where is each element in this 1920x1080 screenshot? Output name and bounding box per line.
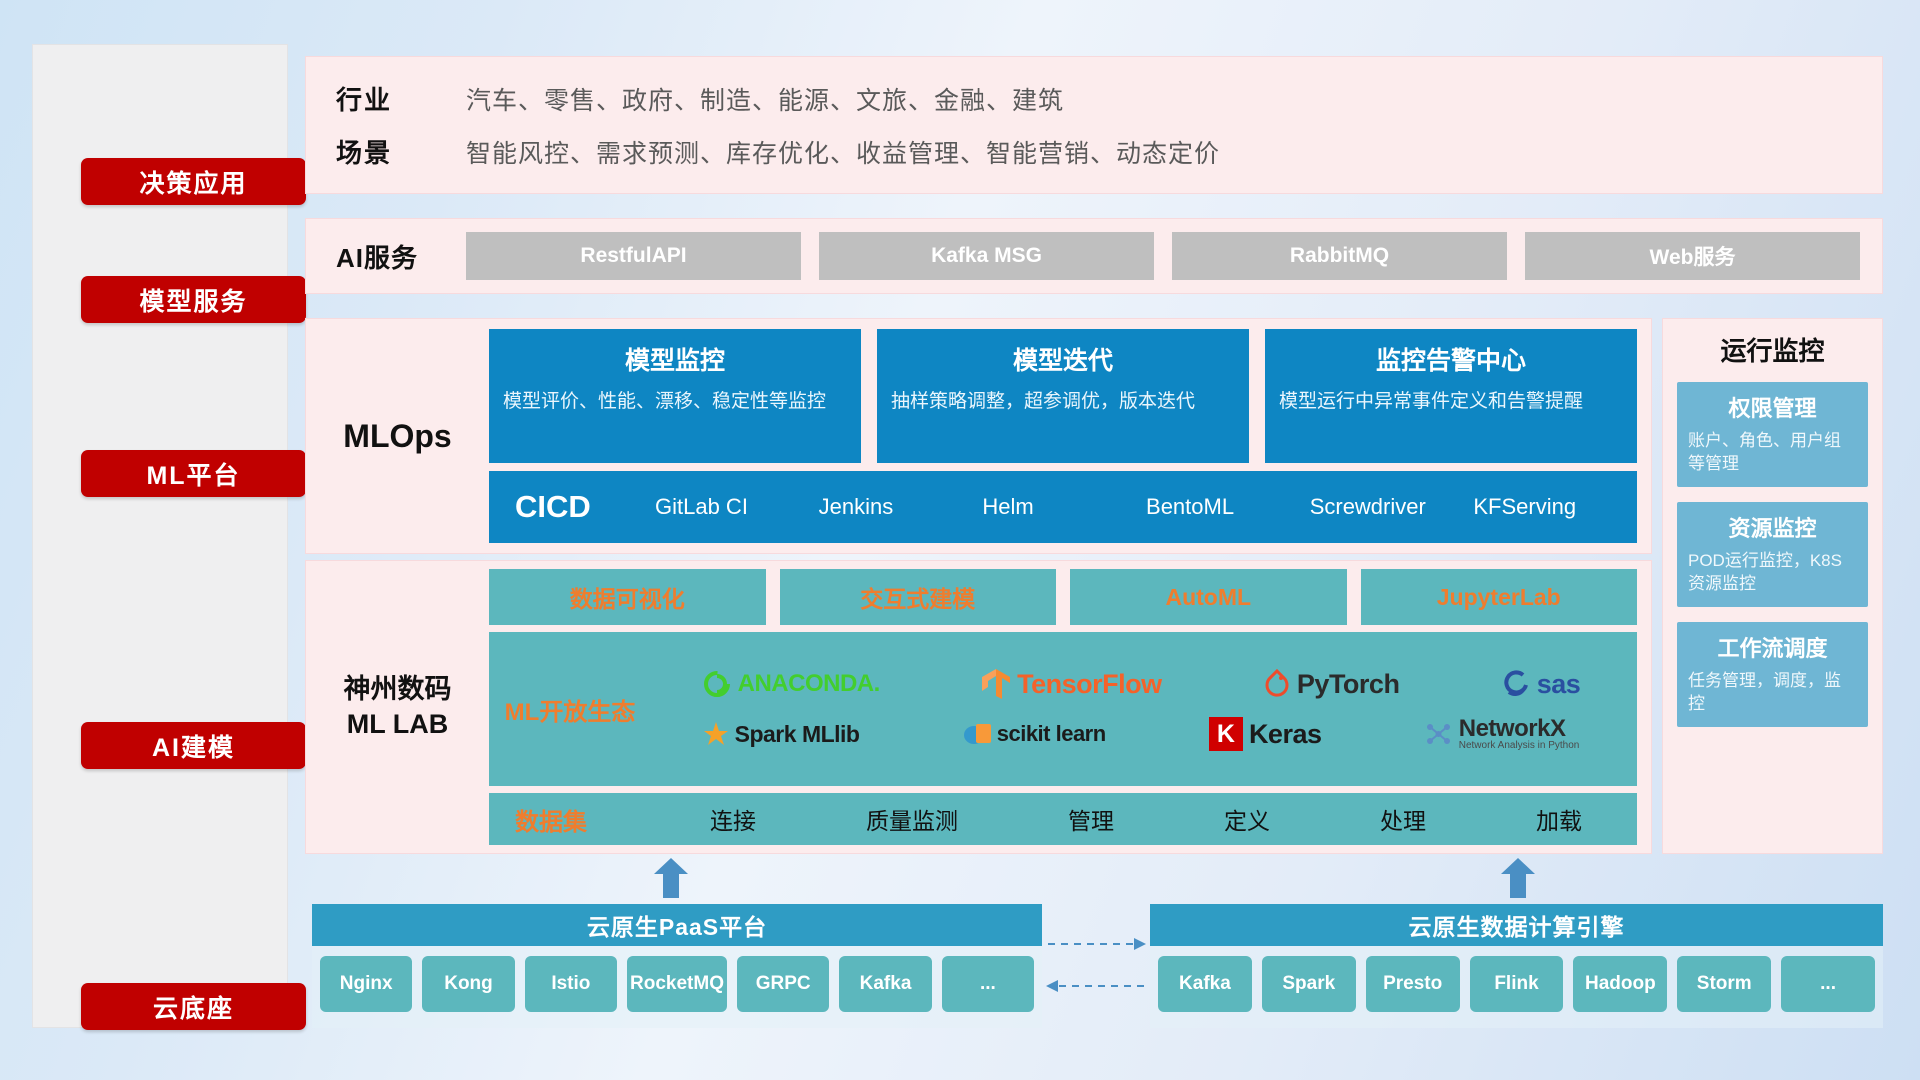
paas-chip-nginx[interactable]: Nginx <box>320 956 412 1012</box>
card-desc: 抽样策略调整，超参调优，版本迭代 <box>891 389 1235 415</box>
sas-icon <box>1501 670 1531 698</box>
scenario-row: 场景 智能风控、需求预测、库存优化、收益管理、智能营销、动态定价 <box>336 133 1882 170</box>
ai-service-band: AI服务 RestfulAPI Kafka MSG RabbitMQ Web服务 <box>305 218 1883 294</box>
card-title: 监控告警中心 <box>1279 341 1623 377</box>
runtime-monitoring-panel: 运行监控 权限管理 账户、角色、用户组等管理 资源监控 POD运行监控，K8S资… <box>1662 318 1883 854</box>
diagram-canvas: 决策应用 模型服务 ML平台 AI建模 云底座 行业 汽车、零售、政府、制造、能… <box>0 0 1920 1080</box>
dataset-item-load[interactable]: 加载 <box>1536 802 1582 836</box>
paas-chip-more[interactable]: ... <box>942 956 1034 1012</box>
networkx-text: NetworkX <box>1459 717 1580 741</box>
networkx-subtitle: Network Analysis in Python <box>1459 741 1580 751</box>
cicd-tool-gitlab-ci[interactable]: GitLab CI <box>655 495 819 519</box>
rail-tag-decision-app[interactable]: 决策应用 <box>81 158 306 205</box>
dataset-row: 数据集 连接 质量监测 管理 定义 处理 加载 <box>489 793 1637 845</box>
engine-chip-kafka[interactable]: Kafka <box>1158 956 1252 1012</box>
ai-modeling-band: 神州数码 ML LAB 数据可视化 交互式建模 AutoML JupyterLa… <box>305 560 1652 854</box>
anaconda-text: ANACONDA. <box>738 670 880 698</box>
service-chip-web[interactable]: Web服务 <box>1525 232 1860 280</box>
card-title: 模型监控 <box>503 341 847 377</box>
mlops-label: MLOps <box>306 319 489 553</box>
mlops-band: MLOps 模型监控 模型评价、性能、漂移、稳定性等监控 模型迭代 抽样策略调整… <box>305 318 1652 554</box>
engine-chip-more[interactable]: ... <box>1781 956 1875 1012</box>
scenario-label: 场景 <box>336 133 466 170</box>
dataset-item-quality-monitoring[interactable]: 质量监测 <box>866 802 958 836</box>
pytorch-logo: PyTorch <box>1263 669 1400 700</box>
ml-ecosystem-label: ML开放生态 <box>489 692 651 727</box>
sas-text: sas <box>1537 669 1581 700</box>
dataset-label: 数据集 <box>515 802 655 837</box>
rail-tag-cloud-base[interactable]: 云底座 <box>81 983 306 1030</box>
card-title: 模型迭代 <box>891 341 1235 377</box>
mlops-card-model-monitoring[interactable]: 模型监控 模型评价、性能、漂移、稳定性等监控 <box>489 329 861 463</box>
mlops-card-alert-center[interactable]: 监控告警中心 模型运行中异常事件定义和告警提醒 <box>1265 329 1637 463</box>
rail-tag-ml-platform[interactable]: ML平台 <box>81 450 306 497</box>
monitor-card-workflow[interactable]: 工作流调度 任务管理，调度，监控 <box>1677 622 1868 727</box>
applications-band: 行业 汽车、零售、政府、制造、能源、文旅、金融、建筑 场景 智能风控、需求预测、… <box>305 56 1883 194</box>
tool-chip-automl[interactable]: AutoML <box>1070 569 1347 625</box>
paas-chip-kafka[interactable]: Kafka <box>839 956 931 1012</box>
tensorflow-icon <box>981 667 1011 701</box>
scikit-learn-icon <box>963 721 991 747</box>
cloud-data-engine-title: 云原生数据计算引擎 <box>1150 904 1883 946</box>
engine-chip-storm[interactable]: Storm <box>1677 956 1771 1012</box>
networkx-icon <box>1425 721 1453 747</box>
tensorflow-text: TensorFlow <box>1017 669 1162 700</box>
ml-lab-label-line1: 神州数码 <box>344 672 452 707</box>
paas-chip-kong[interactable]: Kong <box>422 956 514 1012</box>
ml-lab-label-line2: ML LAB <box>347 707 449 742</box>
scikit-learn-text: scikit learn <box>997 721 1106 747</box>
cicd-tool-bentoml[interactable]: BentoML <box>1146 495 1310 519</box>
keras-icon: K <box>1209 717 1243 751</box>
cloud-paas-title: 云原生PaaS平台 <box>312 904 1042 946</box>
tensorflow-logo: TensorFlow <box>981 667 1162 701</box>
anaconda-icon <box>702 669 732 699</box>
industry-label: 行业 <box>336 80 466 117</box>
engine-chip-presto[interactable]: Presto <box>1366 956 1460 1012</box>
tool-chip-interactive-modeling[interactable]: 交互式建模 <box>780 569 1057 625</box>
dataset-item-process[interactable]: 处理 <box>1380 802 1426 836</box>
networkx-logo: NetworkX Network Analysis in Python <box>1425 717 1580 751</box>
cicd-tool-helm[interactable]: Helm <box>982 495 1146 519</box>
monitor-card-permission[interactable]: 权限管理 账户、角色、用户组等管理 <box>1677 382 1868 487</box>
scikit-learn-logo: scikit learn <box>963 721 1106 747</box>
arrow-up-paas-icon <box>654 858 688 898</box>
service-chip-restfulapi[interactable]: RestfulAPI <box>466 232 801 280</box>
spark-star-icon <box>703 721 729 747</box>
cicd-tool-kfserving[interactable]: KFServing <box>1473 495 1637 519</box>
sas-logo: sas <box>1501 669 1581 700</box>
dataset-item-manage[interactable]: 管理 <box>1068 802 1114 836</box>
engine-chip-flink[interactable]: Flink <box>1470 956 1564 1012</box>
dataset-item-define[interactable]: 定义 <box>1224 802 1270 836</box>
card-desc: 任务管理，调度，监控 <box>1688 670 1857 716</box>
card-desc: 模型评价、性能、漂移、稳定性等监控 <box>503 389 847 415</box>
cloud-paas-group: 云原生PaaS平台 Nginx Kong Istio RocketMQ GRPC… <box>312 904 1042 1028</box>
anaconda-logo: ANACONDA. <box>702 669 880 699</box>
cicd-label: CICD <box>515 489 655 525</box>
keras-logo: K Keras <box>1209 717 1322 751</box>
rail-tag-model-service[interactable]: 模型服务 <box>81 276 306 323</box>
spark-mllib-logo: Spark MLlib <box>703 721 860 748</box>
monitor-card-resource[interactable]: 资源监控 POD运行监控，K8S资源监控 <box>1677 502 1868 607</box>
cicd-row: CICD GitLab CI Jenkins Helm BentoML Scre… <box>489 471 1637 543</box>
runtime-monitoring-title: 运行监控 <box>1677 331 1868 368</box>
pytorch-icon <box>1263 669 1291 699</box>
scenario-values: 智能风控、需求预测、库存优化、收益管理、智能营销、动态定价 <box>466 134 1220 170</box>
mlops-card-model-iteration[interactable]: 模型迭代 抽样策略调整，超参调优，版本迭代 <box>877 329 1249 463</box>
cicd-tool-screwdriver[interactable]: Screwdriver <box>1310 495 1474 519</box>
dataset-item-connect[interactable]: 连接 <box>710 802 756 836</box>
industry-row: 行业 汽车、零售、政府、制造、能源、文旅、金融、建筑 <box>336 80 1882 117</box>
ml-ecosystem-panel: ML开放生态 ANACONDA. <box>489 632 1637 786</box>
pytorch-text: PyTorch <box>1297 669 1400 700</box>
card-desc: POD运行监控，K8S资源监控 <box>1688 550 1857 596</box>
service-chip-rabbitmq[interactable]: RabbitMQ <box>1172 232 1507 280</box>
cloud-data-engine-group: 云原生数据计算引擎 Kafka Spark Presto Flink Hadoo… <box>1150 904 1883 1028</box>
service-chip-kafka-msg[interactable]: Kafka MSG <box>819 232 1154 280</box>
card-title: 权限管理 <box>1688 391 1857 423</box>
arrow-up-data-engine-icon <box>1501 858 1535 898</box>
card-desc: 模型运行中异常事件定义和告警提醒 <box>1279 389 1623 415</box>
engine-chip-hadoop[interactable]: Hadoop <box>1573 956 1667 1012</box>
rail-tag-ai-modeling[interactable]: AI建模 <box>81 722 306 769</box>
layer-rail: 决策应用 模型服务 ML平台 AI建模 云底座 <box>32 44 288 1028</box>
card-title: 资源监控 <box>1688 511 1857 543</box>
paas-chip-rocketmq[interactable]: RocketMQ <box>627 956 727 1012</box>
engine-chip-spark[interactable]: Spark <box>1262 956 1356 1012</box>
paas-chip-istio[interactable]: Istio <box>525 956 617 1012</box>
ml-lab-label: 神州数码 ML LAB <box>306 561 489 853</box>
tool-chip-jupyterlab[interactable]: JupyterLab <box>1361 569 1638 625</box>
paas-chip-grpc[interactable]: GRPC <box>737 956 829 1012</box>
ai-service-label: AI服务 <box>306 238 466 275</box>
bidirectional-dashed-connector-icon <box>1046 934 1146 998</box>
card-desc: 账户、角色、用户组等管理 <box>1688 430 1857 476</box>
tool-chip-data-visualization[interactable]: 数据可视化 <box>489 569 766 625</box>
industry-values: 汽车、零售、政府、制造、能源、文旅、金融、建筑 <box>466 81 1064 117</box>
cicd-tool-jenkins[interactable]: Jenkins <box>819 495 983 519</box>
spark-mllib-text: Spark MLlib <box>735 721 860 748</box>
ai-service-items: RestfulAPI Kafka MSG RabbitMQ Web服务 <box>466 232 1882 280</box>
keras-text: Keras <box>1249 719 1322 750</box>
card-title: 工作流调度 <box>1688 631 1857 663</box>
